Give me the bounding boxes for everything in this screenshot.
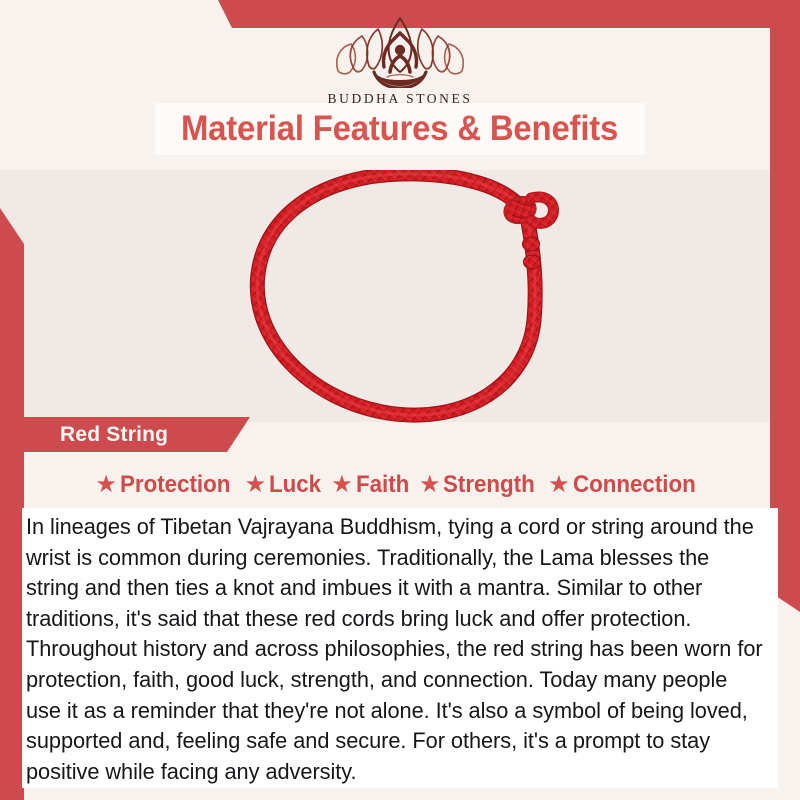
star-icon: ★ xyxy=(331,473,353,497)
lotus-meditation-icon xyxy=(324,14,476,88)
feature-item-connection: ★ Connection xyxy=(548,471,705,499)
star-icon: ★ xyxy=(95,473,117,497)
feature-item-luck: ★ Luck xyxy=(245,471,326,499)
feature-item-protection: ★ Protection xyxy=(95,471,238,499)
star-icon: ★ xyxy=(548,473,570,497)
feature-label: Protection xyxy=(120,471,230,499)
star-icon: ★ xyxy=(419,473,441,497)
feature-label: Connection xyxy=(573,471,696,499)
feature-item-faith: ★ Faith xyxy=(331,471,413,499)
star-icon: ★ xyxy=(245,473,267,497)
feature-label: Faith xyxy=(356,471,409,499)
infographic-canvas: BUDDHA STONES Material Features & Benefi… xyxy=(0,0,800,800)
product-label-text: Red String xyxy=(60,417,168,452)
brand-logo: BUDDHA STONES xyxy=(0,14,800,107)
feature-label: Luck xyxy=(269,471,321,499)
feature-item-strength: ★ Strength xyxy=(419,471,542,499)
description-text: In lineages of Tibetan Vajrayana Buddhis… xyxy=(26,512,763,787)
product-image-red-string-bracelet xyxy=(228,170,578,432)
feature-label: Strength xyxy=(443,471,535,499)
page-title: Material Features & Benefits xyxy=(181,109,618,149)
title-banner: Material Features & Benefits xyxy=(155,103,645,155)
feature-list: ★ Protection ★ Luck ★ Faith ★ Strength ★… xyxy=(30,466,770,504)
